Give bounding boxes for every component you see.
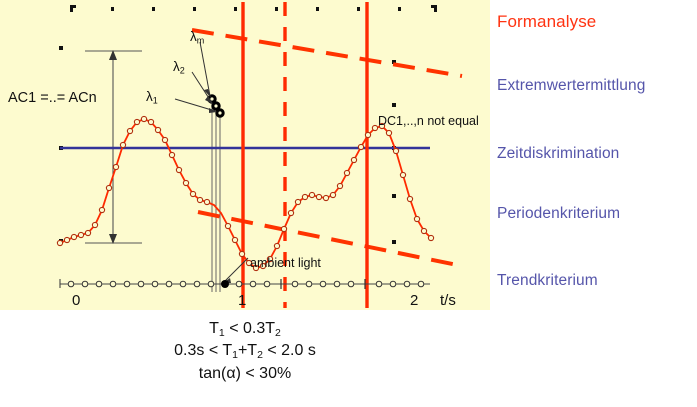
legend-item-zeitdiskrimination[interactable]: Zeitdiskrimination [497, 145, 619, 163]
left-tick-marks [59, 46, 63, 243]
formula-2-plus: +T [238, 342, 257, 359]
lambda-1-symbol: λ [146, 89, 153, 104]
formula-2-lower: 0.3s < T [174, 342, 232, 359]
formula-2-upper: < 2.0 s [263, 342, 316, 359]
lambda-1-subscript: 1 [153, 96, 158, 106]
lambda-m-label: λm [190, 29, 204, 46]
lambda-2-symbol: λ [173, 59, 180, 74]
formula-1-t1: T [209, 320, 219, 337]
formula-1-sub2: 2 [275, 327, 281, 339]
legend-item-formanalyse[interactable]: Formanalyse [497, 12, 596, 32]
top-tick-marks [70, 5, 437, 12]
sample-axis-marker-highlight [221, 280, 229, 288]
signal-plot [0, 0, 490, 310]
formula-1-rel: < 0.3T [225, 320, 275, 337]
ambient-light-label: ambient light [250, 256, 321, 270]
ac-equality-label: AC1 =..= ACn [8, 90, 97, 106]
figure-root: AC1 =..= ACn DC1,..,n not equal ambient … [0, 0, 697, 407]
legend-item-extremwertermittlung[interactable]: Extremwertermittlung [497, 77, 645, 95]
lambda-sample-rules [212, 99, 220, 292]
criteria-formulas: T1 < 0.3T2 0.3s < T1+T2 < 2.0 s tan(α) <… [0, 318, 490, 385]
formula-line-2: 0.3s < T1+T2 < 2.0 s [0, 340, 490, 362]
legend-item-periodenkriterium[interactable]: Periodenkriterium [497, 205, 620, 223]
lambda-sample-points [208, 95, 224, 117]
criteria-legend: Formanalyse Extremwertermittlung Zeitdis… [497, 0, 697, 310]
lambda-2-label: λ2 [173, 59, 185, 76]
formula-line-3: tan(α) < 30% [0, 363, 490, 385]
formula-line-1: T1 < 0.3T2 [0, 318, 490, 340]
x-tick-label-0: 0 [72, 292, 80, 309]
lambda-m-symbol: λ [190, 29, 197, 44]
dc-inequality-label: DC1,..,n not equal [378, 114, 479, 128]
x-axis-unit-label: t/s [440, 292, 456, 309]
legend-item-trendkriterium[interactable]: Trendkriterium [497, 272, 598, 290]
plot-panel: AC1 =..= ACn DC1,..,n not equal ambient … [0, 0, 490, 310]
upper-trend-line [192, 30, 462, 76]
lambda-m-subscript: m [197, 36, 205, 46]
lambda-1-label: λ1 [146, 89, 158, 106]
signal-curve [60, 119, 431, 268]
lambda-2-subscript: 2 [180, 66, 185, 76]
x-tick-label-1: 1 [238, 292, 246, 309]
x-tick-label-2: 2 [410, 292, 418, 309]
